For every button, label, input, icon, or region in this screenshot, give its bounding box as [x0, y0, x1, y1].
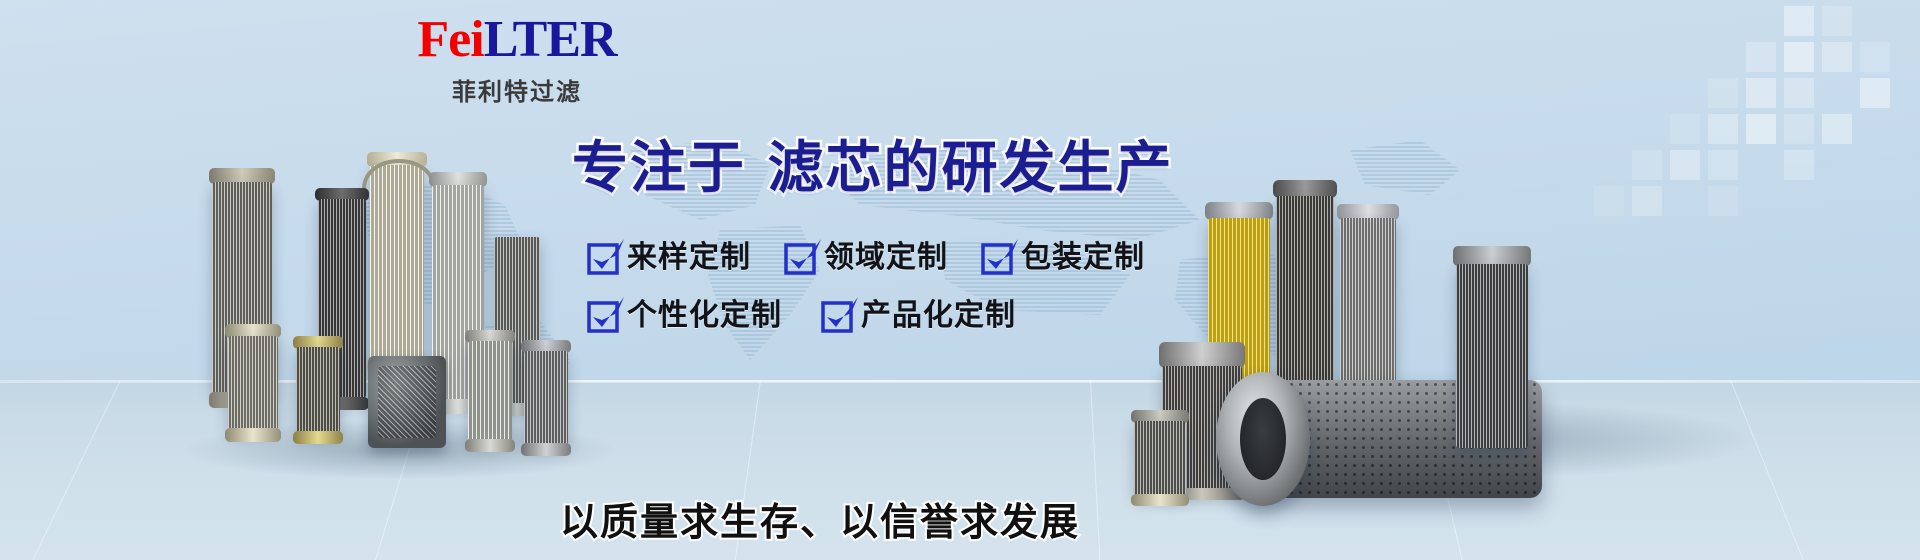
brand-logo[interactable]: FeiLTER 菲利特过滤 [392, 12, 642, 107]
banner-tagline: 以质量求生存、以信誉求发展 [560, 500, 1080, 544]
feature-row-2: 个性化定制 产品化定制 [588, 300, 1188, 332]
logo-chinese-name: 菲利特过滤 [392, 72, 642, 107]
checkbox-check-icon [822, 301, 852, 331]
feature-item-label: 领域定制 [824, 242, 948, 274]
promo-banner: FeiLTER 菲利特过滤 专注于 滤芯的研发生产 来样定制 [0, 0, 1920, 560]
logo-wordmark-fei: Fei [417, 11, 483, 68]
feature-item-label: 来样定制 [627, 242, 751, 274]
logo-wordmark-lter: LTER [484, 11, 617, 68]
checkbox-check-icon [588, 301, 618, 331]
feature-list: 来样定制 领域定制 包装定制 [588, 242, 1188, 332]
checkbox-check-icon [785, 243, 815, 273]
mosaic-squares-decoration [1360, 0, 1920, 230]
feature-item-chan-pin-hua-ding-zhi: 产品化定制 [822, 300, 1016, 332]
feature-item-ge-xing-hua-ding-zhi: 个性化定制 [588, 300, 782, 332]
page-title: 专注于 滤芯的研发生产 [572, 138, 1174, 200]
feature-item-label: 包装定制 [1021, 242, 1145, 274]
checkbox-check-icon [588, 243, 618, 273]
checkbox-check-icon [982, 243, 1012, 273]
feature-row-1: 来样定制 领域定制 包装定制 [588, 242, 1188, 274]
feature-item-label: 产品化定制 [861, 300, 1016, 332]
feature-item-lai-yang-ding-zhi: 来样定制 [588, 242, 751, 274]
feature-item-bao-zhuang-ding-zhi: 包装定制 [982, 242, 1145, 274]
feature-item-ling-yu-ding-zhi: 领域定制 [785, 242, 948, 274]
logo-wordmark: FeiLTER [392, 12, 642, 68]
feature-item-label: 个性化定制 [627, 300, 782, 332]
